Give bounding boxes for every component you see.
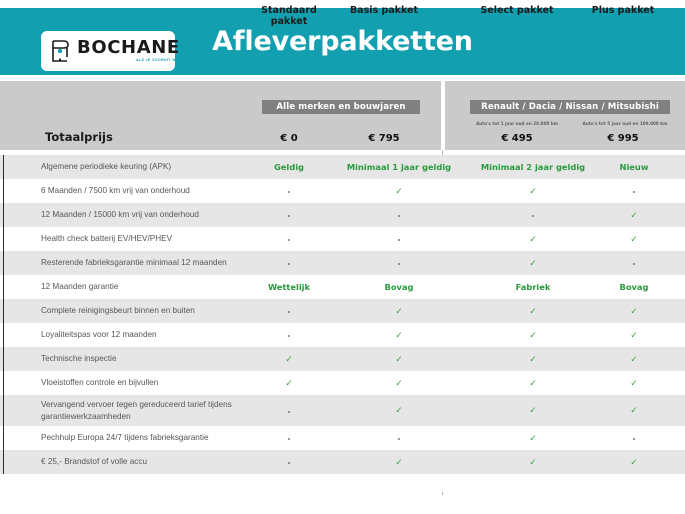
check-icon: ✓ bbox=[630, 406, 638, 416]
check-icon: ✓ bbox=[630, 379, 638, 389]
check-icon: ✓ bbox=[529, 355, 537, 365]
check-icon: ✓ bbox=[395, 458, 403, 468]
value-select: ✓ bbox=[479, 354, 587, 365]
check-icon: ✓ bbox=[529, 458, 537, 468]
row-edge-marker bbox=[3, 227, 4, 251]
package-note-plus: Auto's tot 5 jaar oud en 100.000 km bbox=[570, 121, 680, 126]
value-standaard: - bbox=[250, 186, 328, 196]
dash-icon: - bbox=[288, 236, 291, 244]
check-icon: ✓ bbox=[285, 379, 293, 389]
dash-icon: - bbox=[288, 459, 291, 467]
value-basis: - bbox=[345, 210, 453, 220]
check-icon: ✓ bbox=[529, 259, 537, 269]
value-text: Minimaal 1 jaar geldig bbox=[347, 162, 451, 172]
value-plus: ✓ bbox=[595, 354, 673, 365]
value-standaard: - bbox=[250, 210, 328, 220]
row-edge-marker bbox=[3, 203, 4, 227]
value-basis: ✓ bbox=[345, 306, 453, 317]
row-edge-marker bbox=[3, 251, 4, 275]
dash-icon: - bbox=[633, 260, 636, 268]
table-row: Vervangend vervoer tegen gereduceerd tar… bbox=[0, 395, 685, 426]
row-edge-marker bbox=[3, 450, 4, 474]
value-standaard: ✓ bbox=[250, 354, 328, 365]
right-group-scope-pill: Renault / Dacia / Nissan / Mitsubishi bbox=[470, 100, 670, 114]
value-basis: ✓ bbox=[345, 330, 453, 341]
feature-label: 12 Maanden garantie bbox=[0, 281, 250, 293]
feature-label: Complete reinigingsbeurt binnen en buite… bbox=[0, 305, 250, 317]
value-standaard: ✓ bbox=[250, 378, 328, 389]
check-icon: ✓ bbox=[395, 187, 403, 197]
table-row: Health check batterij EV/HEV/PHEV--✓✓ bbox=[0, 227, 685, 251]
feature-label: 6 Maanden / 7500 km vrij van onderhoud bbox=[0, 185, 250, 197]
value-basis: Bovag bbox=[345, 282, 453, 292]
value-select: ✓ bbox=[479, 234, 587, 245]
table-row: 6 Maanden / 7500 km vrij van onderhoud-✓… bbox=[0, 179, 685, 203]
table-row: Loyaliteitspas voor 12 maanden-✓✓✓ bbox=[0, 323, 685, 347]
table-row: Technische inspectie✓✓✓✓ bbox=[0, 347, 685, 371]
check-icon: ✓ bbox=[529, 331, 537, 341]
feature-label: 12 Maanden / 15000 km vrij van onderhoud bbox=[0, 209, 250, 221]
price-basis: € 795 bbox=[345, 133, 423, 144]
value-select: ✓ bbox=[479, 258, 587, 269]
value-text: Bovag bbox=[385, 282, 414, 292]
brand-tagline: ALS JE VOORUIT WIL bbox=[77, 59, 180, 63]
value-plus: ✓ bbox=[595, 405, 673, 416]
value-select: ✓ bbox=[479, 433, 587, 444]
value-standaard: - bbox=[250, 406, 328, 416]
dash-icon: - bbox=[288, 308, 291, 316]
left-group-scope-pill: Alle merken en bouwjaren bbox=[262, 100, 420, 114]
table-row: Complete reinigingsbeurt binnen en buite… bbox=[0, 299, 685, 323]
package-name-basis: Basis pakket bbox=[345, 5, 423, 16]
feature-label: Pechhulp Europa 24/7 tijdens fabrieksgar… bbox=[0, 432, 250, 444]
row-edge-marker bbox=[3, 426, 4, 450]
value-standaard: - bbox=[250, 457, 328, 467]
value-plus: Nieuw bbox=[595, 162, 673, 172]
value-select: ✓ bbox=[479, 457, 587, 468]
value-plus: ✓ bbox=[595, 234, 673, 245]
dash-icon: - bbox=[398, 260, 401, 268]
check-icon: ✓ bbox=[630, 235, 638, 245]
dash-icon: - bbox=[398, 435, 401, 443]
table-row: 12 Maanden / 15000 km vrij van onderhoud… bbox=[0, 203, 685, 227]
feature-label: Technische inspectie bbox=[0, 353, 250, 365]
value-select: ✓ bbox=[479, 186, 587, 197]
brand-logo: BOCHANE ALS JE VOORUIT WIL bbox=[41, 31, 175, 71]
value-basis: ✓ bbox=[345, 405, 453, 416]
price-standaard: € 0 bbox=[250, 133, 328, 144]
value-standaard: Geldig bbox=[250, 162, 328, 172]
row-edge-marker bbox=[3, 395, 4, 426]
table-row: Algemene periodieke keuring (APK)GeldigM… bbox=[0, 155, 685, 179]
price-plus: € 995 bbox=[578, 133, 668, 144]
value-basis: Minimaal 1 jaar geldig bbox=[345, 162, 453, 172]
value-text: Bovag bbox=[620, 282, 649, 292]
check-icon: ✓ bbox=[529, 235, 537, 245]
value-plus: - bbox=[595, 186, 673, 196]
price-select: € 495 bbox=[472, 133, 562, 144]
row-edge-marker bbox=[3, 179, 4, 203]
check-icon: ✓ bbox=[529, 187, 537, 197]
value-basis: - bbox=[345, 258, 453, 268]
value-basis: - bbox=[345, 234, 453, 244]
value-standaard: - bbox=[250, 234, 328, 244]
feature-label: Algemene periodieke keuring (APK) bbox=[0, 161, 250, 173]
feature-label: Resterende fabrieksgarantie minimaal 12 … bbox=[0, 257, 250, 269]
dash-icon: - bbox=[288, 408, 291, 416]
value-basis: ✓ bbox=[345, 186, 453, 197]
check-icon: ✓ bbox=[395, 331, 403, 341]
feature-label: Health check batterij EV/HEV/PHEV bbox=[0, 233, 250, 245]
check-icon: ✓ bbox=[285, 355, 293, 365]
check-icon: ✓ bbox=[630, 458, 638, 468]
dash-icon: - bbox=[398, 212, 401, 220]
table-row: Resterende fabrieksgarantie minimaal 12 … bbox=[0, 251, 685, 275]
check-icon: ✓ bbox=[630, 331, 638, 341]
value-text: Geldig bbox=[274, 162, 304, 172]
value-plus: ✓ bbox=[595, 210, 673, 221]
value-plus: Bovag bbox=[595, 282, 673, 292]
total-price-label: Totaalprijs bbox=[45, 130, 113, 144]
value-text: Nieuw bbox=[620, 162, 649, 172]
package-name-standaard: Standaard pakket bbox=[250, 5, 328, 27]
check-icon: ✓ bbox=[630, 307, 638, 317]
value-plus: - bbox=[595, 258, 673, 268]
dash-icon: - bbox=[532, 212, 535, 220]
value-plus: ✓ bbox=[595, 306, 673, 317]
row-edge-marker bbox=[3, 371, 4, 395]
dash-icon: - bbox=[633, 435, 636, 443]
value-standaard: - bbox=[250, 306, 328, 316]
header-underline bbox=[0, 150, 685, 151]
check-icon: ✓ bbox=[529, 307, 537, 317]
value-plus: - bbox=[595, 433, 673, 443]
table-bottom-padding bbox=[0, 474, 685, 492]
value-select: ✓ bbox=[479, 306, 587, 317]
brand-name: BOCHANE bbox=[77, 39, 180, 57]
bochane-mark-icon bbox=[50, 38, 72, 64]
feature-label: Loyaliteitspas voor 12 maanden bbox=[0, 329, 250, 341]
afleverpakketten-comparison-sheet: BOCHANE ALS JE VOORUIT WIL Afleverpakket… bbox=[0, 0, 685, 514]
value-basis: ✓ bbox=[345, 378, 453, 389]
dash-icon: - bbox=[288, 188, 291, 196]
value-select: ✓ bbox=[479, 330, 587, 341]
value-select: Minimaal 2 jaar geldig bbox=[479, 162, 587, 172]
check-icon: ✓ bbox=[395, 307, 403, 317]
value-select: ✓ bbox=[479, 378, 587, 389]
check-icon: ✓ bbox=[395, 355, 403, 365]
row-edge-marker bbox=[3, 275, 4, 299]
package-name-select: Select pakket bbox=[472, 5, 562, 16]
feature-label: Vloeistoffen controle en bijvullen bbox=[0, 377, 250, 389]
dash-icon: - bbox=[398, 236, 401, 244]
row-edge-marker bbox=[3, 155, 4, 179]
table-row: Pechhulp Europa 24/7 tijdens fabrieksgar… bbox=[0, 426, 685, 450]
package-name-plus: Plus pakket bbox=[578, 5, 668, 16]
value-select: - bbox=[479, 210, 587, 220]
row-edge-marker bbox=[3, 323, 4, 347]
check-icon: ✓ bbox=[529, 434, 537, 444]
value-plus: ✓ bbox=[595, 330, 673, 341]
value-standaard: - bbox=[250, 433, 328, 443]
table-row: Vloeistoffen controle en bijvullen✓✓✓✓ bbox=[0, 371, 685, 395]
value-standaard: - bbox=[250, 258, 328, 268]
check-icon: ✓ bbox=[630, 355, 638, 365]
column-group-gap bbox=[441, 81, 445, 150]
value-text: Wettelijk bbox=[268, 282, 310, 292]
dash-icon: - bbox=[288, 260, 291, 268]
check-icon: ✓ bbox=[630, 211, 638, 221]
feature-label: € 25,- Brandstof of volle accu bbox=[0, 456, 250, 468]
value-standaard: Wettelijk bbox=[250, 282, 328, 292]
value-plus: ✓ bbox=[595, 457, 673, 468]
value-select: ✓ bbox=[479, 405, 587, 416]
dash-icon: - bbox=[288, 435, 291, 443]
value-basis: - bbox=[345, 433, 453, 443]
value-text: Minimaal 2 jaar geldig bbox=[481, 162, 585, 172]
table-row: 12 Maanden garantieWettelijkBovagFabriek… bbox=[0, 275, 685, 299]
package-note-select: Auto's tot 1 jaar oud en 20.000 km bbox=[462, 121, 572, 126]
check-icon: ✓ bbox=[395, 379, 403, 389]
value-text: Fabriek bbox=[516, 282, 551, 292]
check-icon: ✓ bbox=[395, 406, 403, 416]
dash-icon: - bbox=[633, 188, 636, 196]
feature-comparison-table: Algemene periodieke keuring (APK)GeldigM… bbox=[0, 155, 685, 492]
feature-label: Vervangend vervoer tegen gereduceerd tar… bbox=[0, 399, 250, 423]
dash-icon: - bbox=[288, 332, 291, 340]
row-edge-marker bbox=[3, 347, 4, 371]
dash-icon: - bbox=[288, 212, 291, 220]
value-basis: ✓ bbox=[345, 457, 453, 468]
table-row: € 25,- Brandstof of volle accu-✓✓✓ bbox=[0, 450, 685, 474]
value-select: Fabriek bbox=[479, 282, 587, 292]
check-icon: ✓ bbox=[529, 406, 537, 416]
value-basis: ✓ bbox=[345, 354, 453, 365]
value-plus: ✓ bbox=[595, 378, 673, 389]
row-edge-marker bbox=[3, 299, 4, 323]
check-icon: ✓ bbox=[529, 379, 537, 389]
page-header-banner: BOCHANE ALS JE VOORUIT WIL Afleverpakket… bbox=[0, 8, 685, 75]
value-standaard: - bbox=[250, 330, 328, 340]
